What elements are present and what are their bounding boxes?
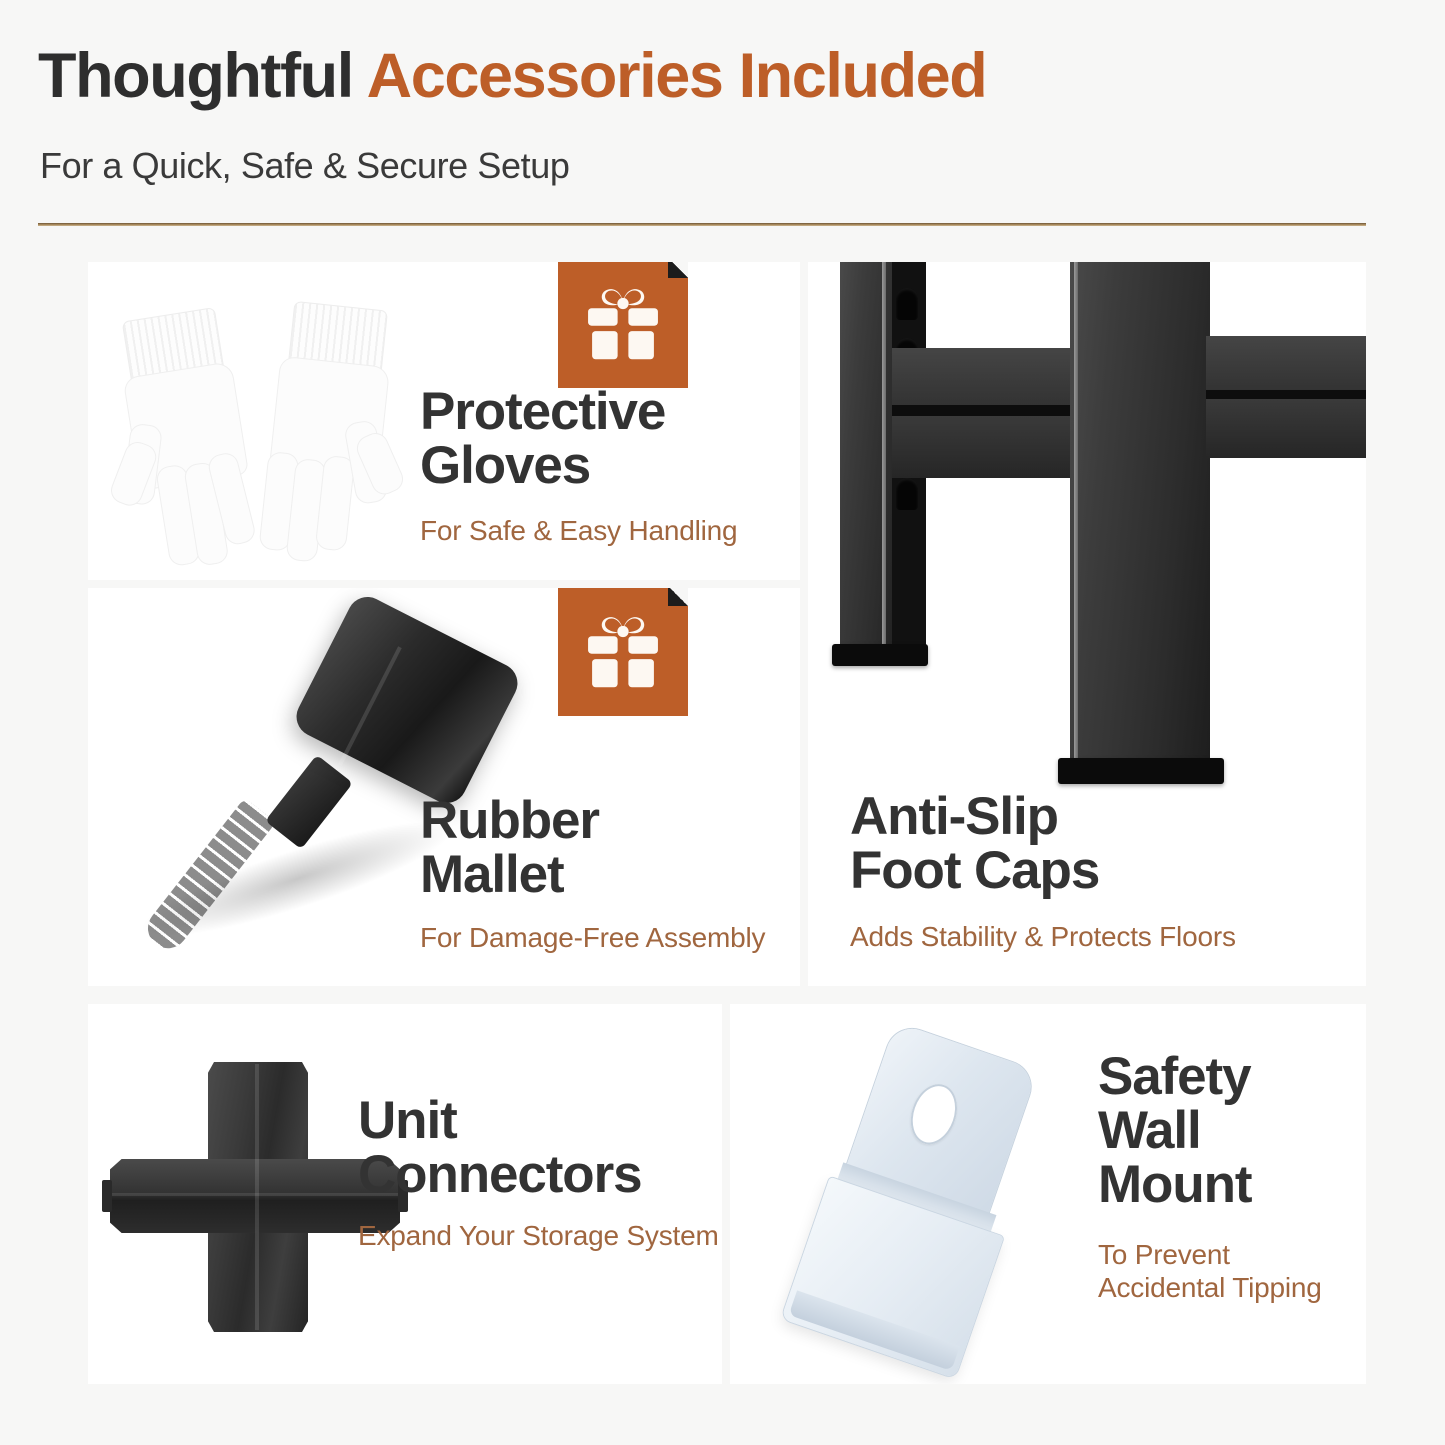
page-title-accent: Accessories Included (367, 41, 987, 111)
shelf-beam-right (1206, 336, 1366, 458)
unit-connector-image (110, 1062, 400, 1332)
foot-cap-left (832, 644, 928, 666)
card-title: Rubber Mallet (420, 794, 599, 902)
card-title: Safety Wall Mount (1098, 1050, 1251, 1212)
feature-card-protective-gloves: Protective Gloves For Safe & Easy Handli… (88, 262, 800, 580)
mallet-image (118, 612, 538, 962)
gift-badge (558, 262, 688, 388)
card-title: Protective Gloves (420, 385, 665, 493)
card-title: Anti-Slip Foot Caps (850, 790, 1099, 898)
feature-card-safety-wall-mount: Safety Wall Mount To Prevent Accidental … (730, 1004, 1366, 1384)
header-divider (38, 223, 1366, 226)
shelf-legs-image (808, 262, 1366, 782)
card-subtitle: For Safe & Easy Handling (420, 514, 737, 547)
shelf-beam-left (892, 348, 1092, 478)
shelf-post-front (1070, 262, 1210, 762)
feature-card-anti-slip-foot-caps: Anti-Slip Foot Caps Adds Stability & Pro… (808, 262, 1366, 986)
page-title-dark: Thoughtful (38, 41, 367, 111)
foot-cap-front (1058, 758, 1224, 784)
card-subtitle: Adds Stability & Protects Floors (850, 920, 1236, 953)
badge-fold-corner (668, 588, 688, 606)
wall-mount-bracket-image (767, 1012, 1114, 1384)
gloves-image (110, 284, 470, 560)
gift-badge (558, 588, 688, 716)
glove-right (245, 299, 409, 564)
feature-card-rubber-mallet: Rubber Mallet For Damage-Free Assembly (88, 588, 800, 986)
card-subtitle: To Prevent Accidental Tipping (1098, 1238, 1322, 1304)
card-subtitle: For Damage-Free Assembly (420, 921, 765, 954)
page-subtitle: For a Quick, Safe & Secure Setup (40, 145, 569, 187)
card-subtitle: Expand Your Storage System (358, 1219, 719, 1252)
badge-fold-corner (668, 262, 688, 278)
header: Thoughtful Accessories Included For a Qu… (0, 0, 1445, 236)
card-title: Unit Connectors (358, 1094, 641, 1202)
feature-card-unit-connectors: Unit Connectors Expand Your Storage Syst… (88, 1004, 722, 1384)
page-title: Thoughtful Accessories Included (38, 45, 986, 108)
